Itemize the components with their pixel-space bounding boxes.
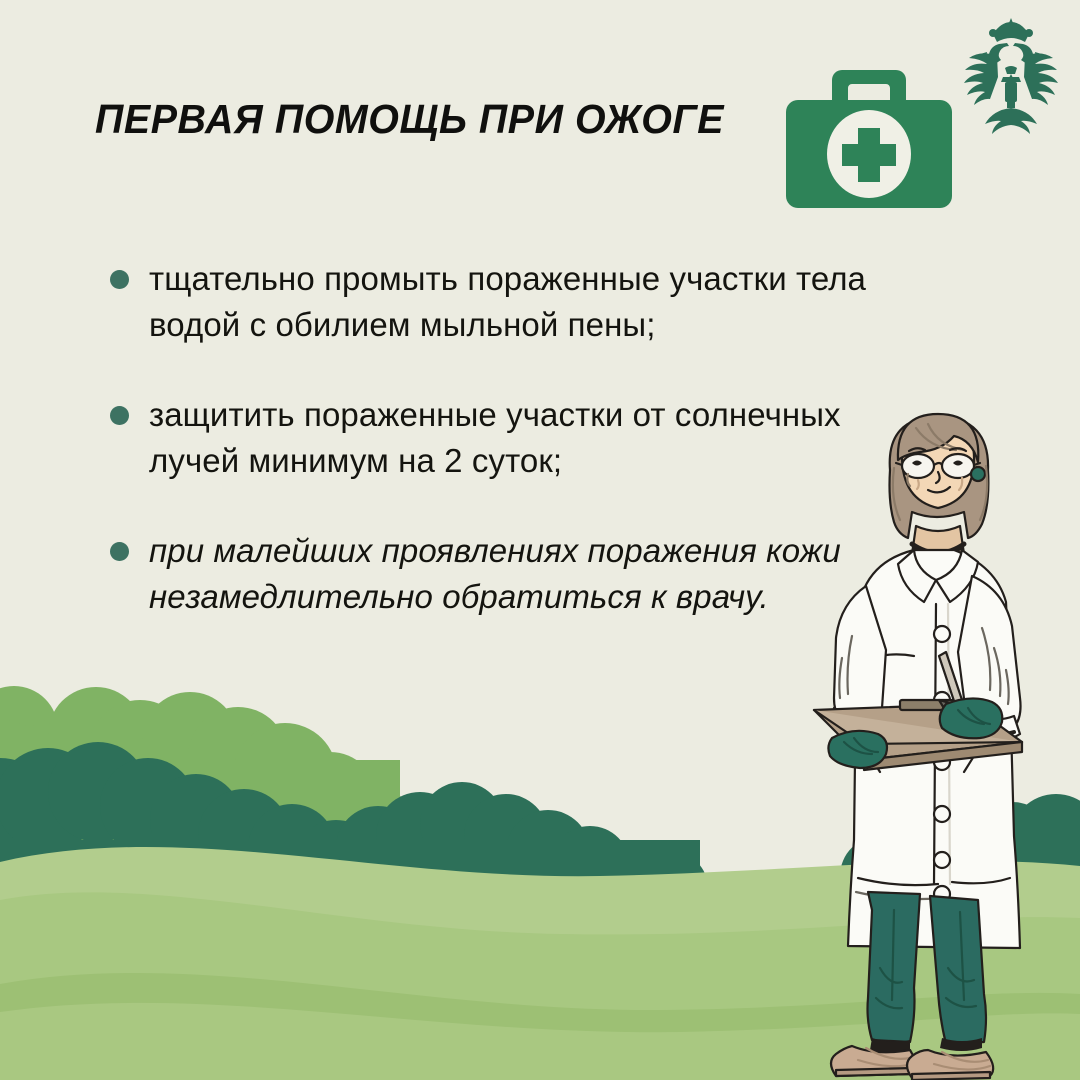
- dark-bush-cluster: [0, 742, 708, 960]
- bullet-dot-icon: [110, 270, 129, 289]
- page-title: ПЕРВАЯ ПОМОЩЬ ПРИ ОЖОГЕ: [95, 96, 724, 143]
- bullet-text: тщательно промыть пораженные участки тел…: [149, 256, 900, 348]
- list-item: тщательно промыть пораженные участки тел…: [110, 256, 900, 348]
- bullet-dot-icon: [110, 542, 129, 561]
- bullet-text: при малейших проявлениях поражения кожи …: [149, 528, 900, 620]
- light-bush-cluster: [0, 686, 414, 920]
- bullet-dot-icon: [110, 406, 129, 425]
- bullet-list: тщательно промыть пораженные участки тел…: [110, 256, 900, 664]
- doctor-with-clipboard-illustration: [796, 408, 1080, 1080]
- first-aid-kit-icon: [780, 58, 958, 210]
- infographic-poster: ПЕРВАЯ ПОМОЩЬ ПРИ ОЖОГЕ: [0, 0, 1080, 1080]
- list-item: при малейших проявлениях поражения кожи …: [110, 528, 900, 620]
- double-headed-eagle-emblem: [955, 14, 1067, 134]
- bullet-text: защитить пораженные участки от солнечных…: [149, 392, 900, 484]
- list-item: защитить пораженные участки от солнечных…: [110, 392, 900, 484]
